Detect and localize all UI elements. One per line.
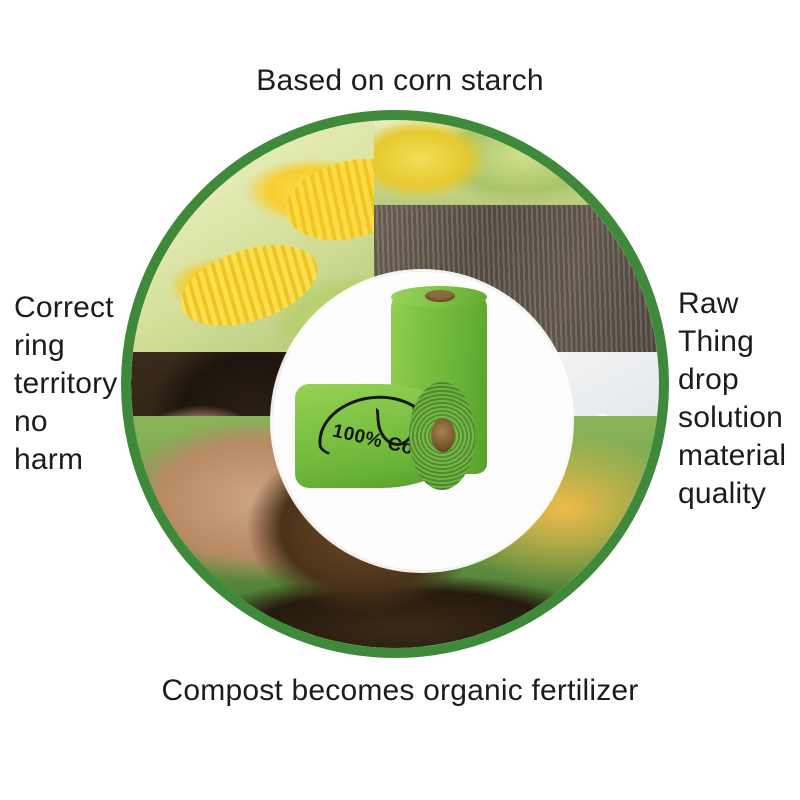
circular-composite: 100% Co xyxy=(121,110,669,658)
green-ring-border: 100% Co xyxy=(121,110,669,658)
product-white-disc: 100% Co xyxy=(273,272,571,570)
caption-top: Based on corn starch xyxy=(0,62,800,100)
standing-roll-core xyxy=(425,290,455,302)
lying-roll-core xyxy=(431,418,455,452)
caption-right: Raw Thing drop solution material quality xyxy=(678,285,800,513)
caption-bottom: Compost becomes organic fertilizer xyxy=(0,672,800,710)
infographic-canvas: Based on corn starch Correct ring territ… xyxy=(0,0,800,800)
